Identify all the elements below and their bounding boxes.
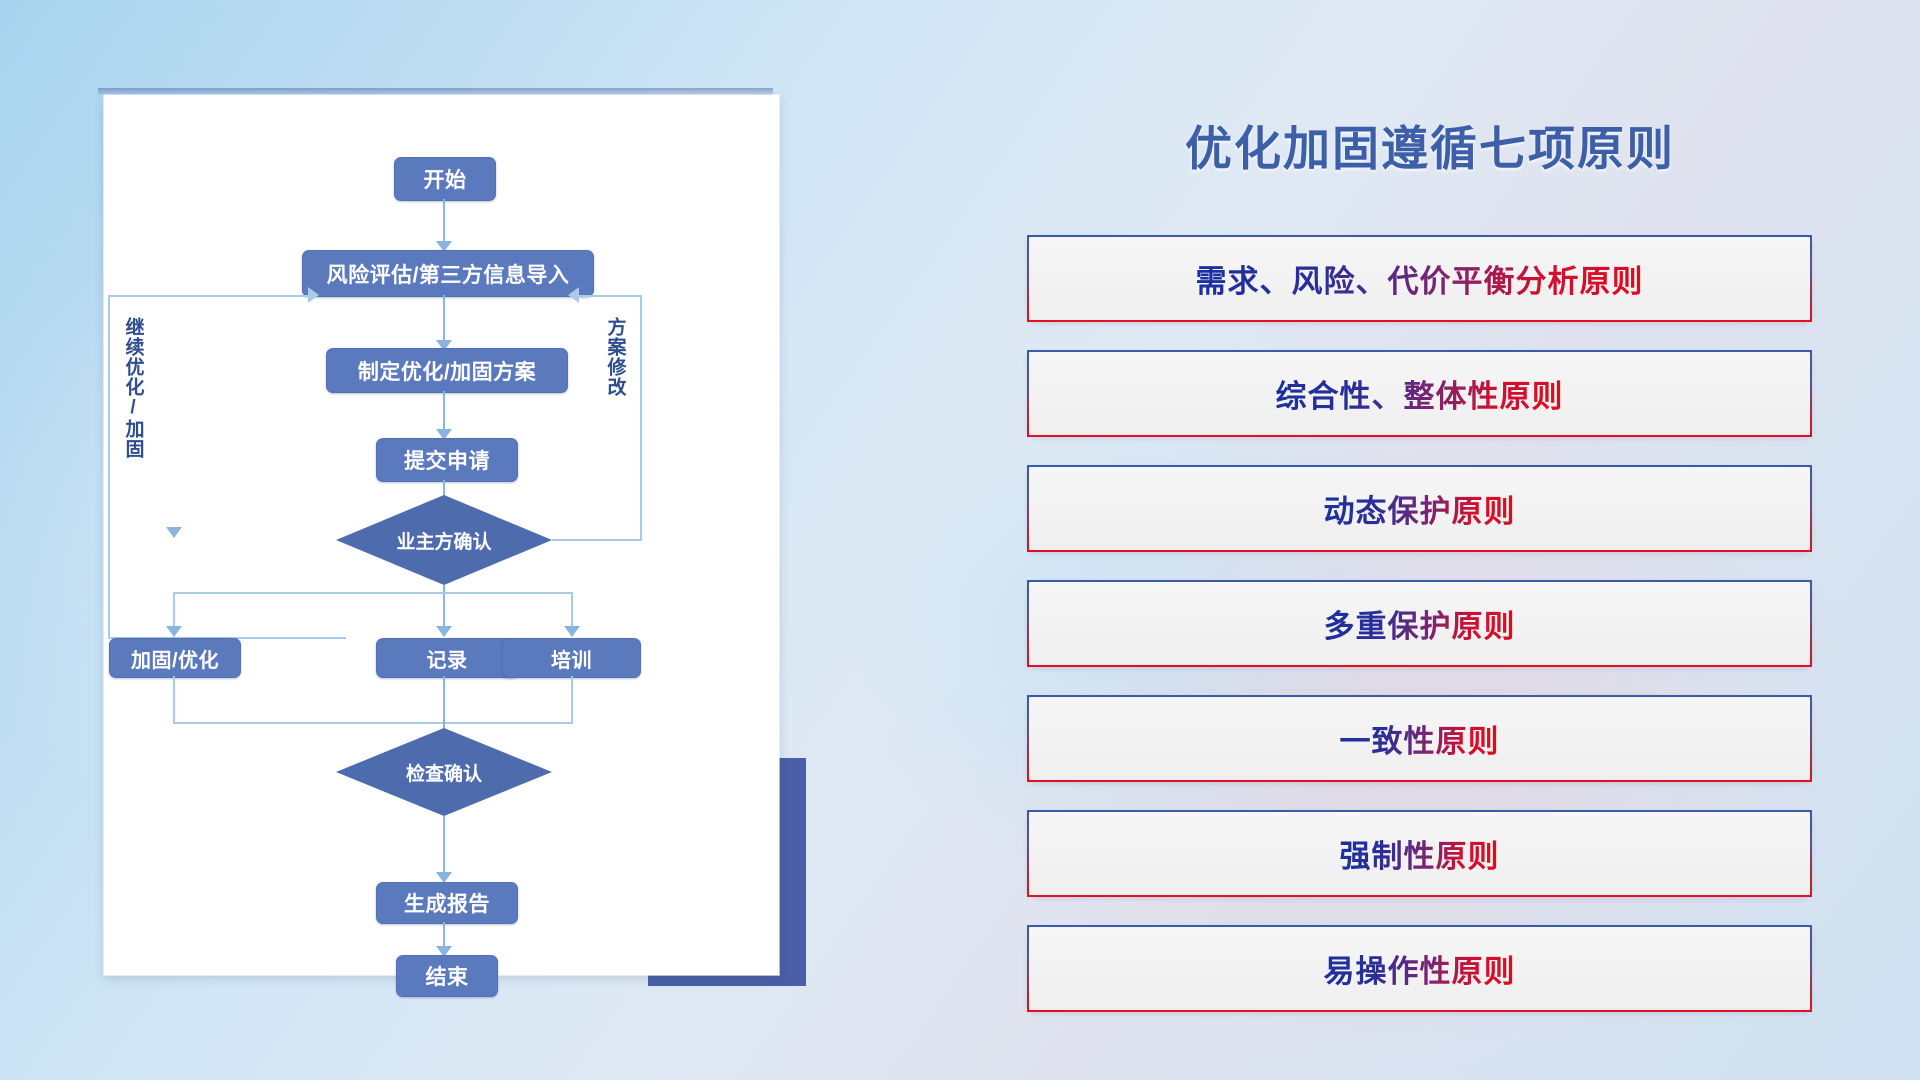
principle-item[interactable]: 强制性原则: [1027, 810, 1812, 897]
arrowhead-plan-from-right: [568, 287, 579, 303]
principle-item[interactable]: 需求、风险、代价平衡分析原则: [1027, 235, 1812, 322]
principles-title: 优化加固遵循七项原则: [1060, 110, 1800, 179]
principle-label: 综合性、整体性原则: [1276, 371, 1564, 416]
principle-item[interactable]: 易操作性原则: [1027, 925, 1812, 1012]
node-reinforce-optimize-label: 加固/优化: [131, 644, 219, 673]
merge-right-down: [571, 676, 573, 724]
principle-label: 动态保护原则: [1324, 486, 1516, 531]
node-risk-assessment-label: 风险评估/第三方信息导入: [327, 259, 570, 289]
merge-left-down: [173, 676, 175, 724]
connector-plan-to-submit: [443, 391, 445, 433]
principle-label: 强制性原则: [1340, 831, 1500, 876]
node-owner-confirmation-label: 业主方确认: [396, 527, 491, 554]
arrowhead-to-reinforce: [166, 626, 182, 637]
flowchart: 开始 风险评估/第三方信息导入 制定优化/加固方案 提交申请: [104, 95, 779, 975]
node-submit-application-label: 提交申请: [404, 445, 490, 475]
node-make-plan[interactable]: 制定优化/加固方案: [326, 348, 568, 393]
principle-label: 需求、风险、代价平衡分析原则: [1196, 256, 1644, 301]
node-reinforce-optimize[interactable]: 加固/优化: [109, 638, 241, 678]
principle-item[interactable]: 多重保护原则: [1027, 580, 1812, 667]
node-end[interactable]: 结束: [396, 955, 498, 997]
connector-right-loop-top: [579, 295, 642, 297]
node-make-plan-label: 制定优化/加固方案: [358, 356, 536, 386]
arrowhead-to-training: [564, 626, 580, 637]
node-training[interactable]: 培训: [502, 638, 641, 678]
arrowhead-plan-from-left: [308, 287, 319, 303]
node-record-label: 记录: [427, 644, 468, 673]
edge-label-plan-revision: 方案修改: [604, 317, 625, 397]
principles-list: 需求、风险、代价平衡分析原则 综合性、整体性原则 动态保护原则 多重保护原则 一…: [1027, 235, 1812, 1040]
node-risk-assessment[interactable]: 风险评估/第三方信息导入: [302, 250, 594, 297]
node-record[interactable]: 记录: [376, 638, 518, 678]
node-training-label: 培训: [551, 644, 592, 673]
node-owner-confirmation[interactable]: 业主方确认: [336, 495, 552, 585]
merge-bus: [173, 722, 573, 724]
node-check-confirmation-label: 检查确认: [406, 759, 482, 786]
connector-right-loop-vertical: [640, 295, 642, 541]
principle-label: 多重保护原则: [1324, 601, 1516, 646]
principle-label: 易操作性原则: [1324, 946, 1516, 991]
connector-owner-right-out: [552, 539, 642, 541]
node-check-confirmation[interactable]: 检查确认: [336, 728, 552, 816]
node-start-label: 开始: [424, 164, 467, 194]
principle-item[interactable]: 综合性、整体性原则: [1027, 350, 1812, 437]
principle-item[interactable]: 一致性原则: [1027, 695, 1812, 782]
flowchart-card: 开始 风险评估/第三方信息导入 制定优化/加固方案 提交申请: [104, 95, 779, 975]
connector-check-to-report: [443, 816, 445, 876]
connector-start-to-risk: [443, 199, 445, 245]
node-generate-report[interactable]: 生成报告: [376, 882, 518, 924]
edge-label-continue-optimize: 继续优化/加固: [122, 317, 143, 459]
arrowhead-reinforce: [166, 527, 182, 538]
node-end-label: 结束: [426, 961, 469, 991]
connector-risk-to-plan: [443, 295, 445, 344]
node-start[interactable]: 开始: [394, 157, 496, 201]
principle-label: 一致性原则: [1340, 716, 1500, 761]
branch-bus-top: [173, 592, 573, 594]
slide-background: 开始 风险评估/第三方信息导入 制定优化/加固方案 提交申请: [0, 0, 1920, 1080]
arrowhead-to-record: [436, 626, 452, 637]
connector-left-loop-top: [108, 295, 308, 297]
connector-left-loop-vertical: [108, 295, 110, 639]
principle-item[interactable]: 动态保护原则: [1027, 465, 1812, 552]
node-submit-application[interactable]: 提交申请: [376, 438, 518, 482]
node-generate-report-label: 生成报告: [404, 888, 490, 918]
